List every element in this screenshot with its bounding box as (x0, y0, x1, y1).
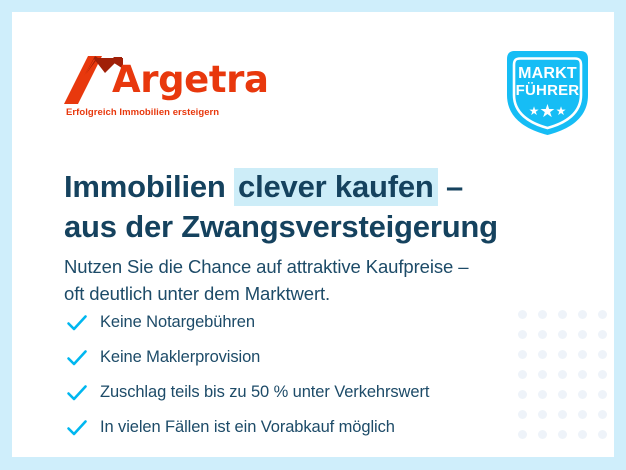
check-icon (66, 417, 88, 439)
headline-line1-after: – (438, 169, 463, 204)
dot (538, 370, 547, 379)
dot (558, 370, 567, 379)
dot (538, 390, 547, 399)
dot (578, 430, 587, 439)
market-leader-badge: MARKT FÜHRER ★★★ (501, 45, 594, 139)
subheadline-line2: oft deutlich unter dem Marktwert. (64, 283, 330, 304)
list-item-label: In vielen Fällen ist ein Vorabkauf mögli… (100, 418, 395, 438)
check-icon (66, 347, 88, 369)
dot (578, 330, 587, 339)
headline: Immobilien clever kaufen – aus der Zwang… (64, 167, 564, 247)
dot (578, 410, 587, 419)
dot (598, 390, 607, 399)
headline-line2: aus der Zwangsversteigerung (64, 209, 498, 244)
banner-card: Argetra Erfolgreich Immobilien ersteiger… (12, 12, 614, 457)
list-item: In vielen Fällen ist ein Vorabkauf mögli… (66, 412, 536, 443)
dot (598, 430, 607, 439)
shield-icon (501, 45, 594, 139)
dot (578, 390, 587, 399)
logo-tagline: Erfolgreich Immobilien ersteigern (66, 107, 219, 118)
dot (558, 430, 567, 439)
dot (558, 350, 567, 359)
dot (538, 410, 547, 419)
promo-banner: Argetra Erfolgreich Immobilien ersteiger… (0, 0, 626, 470)
subheadline-line1: Nutzen Sie die Chance auf attraktive Kau… (64, 256, 468, 277)
list-item: Zuschlag teils bis zu 50 % unter Verkehr… (66, 377, 536, 408)
headline-line1-before: Immobilien (64, 169, 234, 204)
dot (578, 310, 587, 319)
dot (558, 330, 567, 339)
headline-highlight: clever kaufen (234, 168, 438, 206)
check-icon (66, 312, 88, 334)
dot (598, 350, 607, 359)
list-item-label: Keine Maklerprovision (100, 348, 260, 368)
dot (598, 370, 607, 379)
dot (538, 310, 547, 319)
argetra-logo: Argetra Erfolgreich Immobilien ersteiger… (64, 56, 304, 122)
dot (538, 350, 547, 359)
list-item: Keine Maklerprovision (66, 342, 536, 373)
benefit-list: Keine Notargebühren Keine Maklerprovisio… (66, 307, 536, 447)
dot (598, 410, 607, 419)
logo-row: Argetra (64, 56, 304, 104)
dot (558, 310, 567, 319)
list-item-label: Keine Notargebühren (100, 313, 255, 333)
logo-wordmark: Argetra (112, 61, 269, 98)
check-icon (66, 382, 88, 404)
dot (538, 330, 547, 339)
dot (538, 430, 547, 439)
dot (598, 330, 607, 339)
dot (558, 390, 567, 399)
dot (598, 310, 607, 319)
subheadline: Nutzen Sie die Chance auf attraktive Kau… (64, 253, 564, 307)
list-item: Keine Notargebühren (66, 307, 536, 338)
list-item-label: Zuschlag teils bis zu 50 % unter Verkehr… (100, 383, 429, 403)
dot (578, 370, 587, 379)
dot (578, 350, 587, 359)
dot (558, 410, 567, 419)
